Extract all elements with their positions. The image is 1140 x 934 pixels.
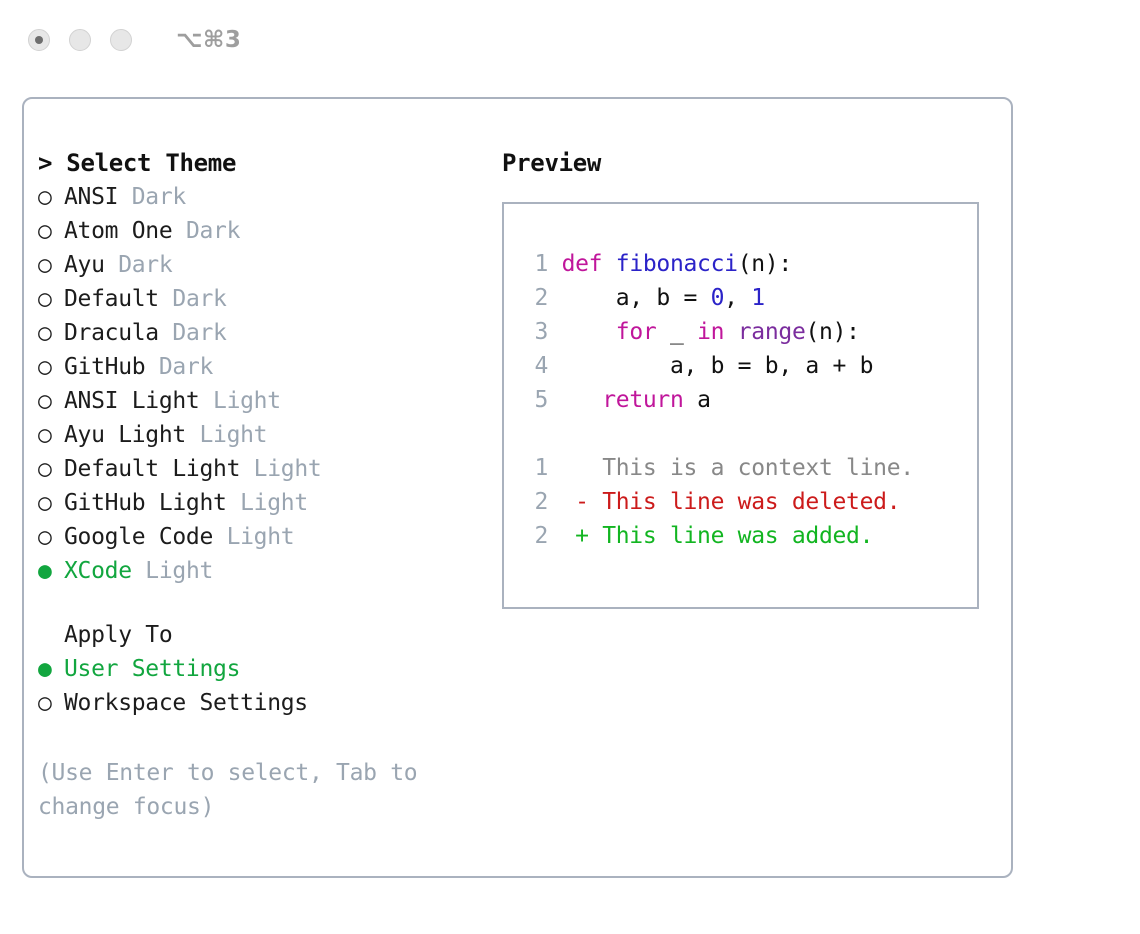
theme-option-label: XCode: [64, 558, 132, 584]
theme-option-tag: Light: [213, 524, 294, 550]
code-token: (n):: [806, 319, 860, 345]
code-line: 5 return a: [514, 383, 914, 417]
window-dot-2-icon[interactable]: [69, 29, 91, 51]
theme-option-label: Default: [64, 286, 159, 312]
theme-option-label: Ayu: [64, 252, 105, 278]
theme-option-row[interactable]: ○Atom One Dark: [38, 214, 498, 248]
radio-unselected-icon[interactable]: ○: [38, 248, 64, 282]
preview-heading: Preview: [502, 146, 1002, 180]
code-line: 4 a, b = b, a + b: [514, 349, 914, 383]
theme-option-tag: Light: [240, 456, 321, 482]
line-number: 1: [514, 247, 548, 281]
theme-option-row[interactable]: ○Ayu Dark: [38, 248, 498, 282]
theme-option-tag: Dark: [105, 252, 173, 278]
theme-option-row[interactable]: ○Ayu Light Light: [38, 418, 498, 452]
preview-box: 1 def fibonacci(n):2 a, b = 0, 13 for _ …: [502, 202, 979, 609]
window-dot-inner-icon: [35, 36, 43, 44]
line-number: 5: [514, 383, 548, 417]
theme-option-tag: Dark: [145, 354, 213, 380]
code-line: 1 This is a context line.: [514, 451, 914, 485]
radio-unselected-icon[interactable]: ○: [38, 384, 64, 418]
keyboard-shortcut-label: ⌥⌘3: [176, 27, 241, 53]
code-token: def: [562, 251, 616, 277]
theme-option-tag: Dark: [159, 286, 227, 312]
code-token: [562, 319, 616, 345]
theme-option-label: GitHub Light: [64, 490, 227, 516]
theme-option-label: Ayu Light: [64, 422, 186, 448]
theme-list-panel: > Select Theme ○ANSI Dark○Atom One Dark○…: [38, 146, 498, 824]
select-theme-heading: > Select Theme: [38, 146, 498, 180]
line-number: 1: [514, 451, 548, 485]
theme-option-row[interactable]: ○Google Code Light: [38, 520, 498, 554]
apply-to-list[interactable]: ●User Settings○Workspace Settings: [38, 652, 498, 720]
code-line: 3 for _ in range(n):: [514, 315, 914, 349]
theme-option-row[interactable]: ●XCode Light: [38, 554, 498, 588]
line-number: 3: [514, 315, 548, 349]
code-line: 2 a, b = 0, 1: [514, 281, 914, 315]
theme-option-row[interactable]: ○Default Dark: [38, 282, 498, 316]
code-token: a: [684, 387, 711, 413]
radio-selected-icon[interactable]: ●: [38, 554, 64, 588]
radio-unselected-icon[interactable]: ○: [38, 686, 64, 720]
theme-option-label: ANSI: [64, 184, 118, 210]
theme-option-label: ANSI Light: [64, 388, 199, 414]
theme-option-row[interactable]: ○Dracula Dark: [38, 316, 498, 350]
radio-selected-icon[interactable]: ●: [38, 652, 64, 686]
window-dot-3-icon[interactable]: [110, 29, 132, 51]
radio-unselected-icon[interactable]: ○: [38, 316, 64, 350]
code-token: for: [616, 319, 657, 345]
code-token: (n):: [738, 251, 792, 277]
window-dot-active-icon[interactable]: [28, 29, 50, 51]
code-line: 1 def fibonacci(n):: [514, 247, 914, 281]
radio-unselected-icon[interactable]: ○: [38, 350, 64, 384]
line-number: 2: [514, 519, 548, 553]
window-controls: [28, 29, 132, 51]
theme-option-row[interactable]: ○GitHub Dark: [38, 350, 498, 384]
line-number: 4: [514, 349, 548, 383]
theme-option-label: Google Code: [64, 524, 213, 550]
radio-unselected-icon[interactable]: ○: [38, 180, 64, 214]
theme-option-label: Dracula: [64, 320, 159, 346]
code-token: return: [602, 387, 683, 413]
radio-unselected-icon[interactable]: ○: [38, 520, 64, 554]
code-token: + This line was added.: [562, 523, 874, 549]
theme-option-row[interactable]: ○ANSI Dark: [38, 180, 498, 214]
apply-to-option-label: Workspace Settings: [64, 690, 308, 716]
theme-option-label: GitHub: [64, 354, 145, 380]
code-token: in: [697, 319, 724, 345]
code-token: - This line was deleted.: [562, 489, 901, 515]
code-preview: 1 def fibonacci(n):2 a, b = 0, 13 for _ …: [514, 247, 914, 553]
theme-option-label: Default Light: [64, 456, 240, 482]
apply-to-option-row[interactable]: ●User Settings: [38, 652, 498, 686]
line-number: 2: [514, 281, 548, 315]
theme-option-tag: Light: [132, 558, 213, 584]
theme-option-tag: Light: [199, 388, 280, 414]
code-line: 2 + This line was added.: [514, 519, 914, 553]
theme-list[interactable]: ○ANSI Dark○Atom One Dark○Ayu Dark○Defaul…: [38, 180, 498, 588]
preview-panel: Preview 1 def fibonacci(n):2 a, b = 0, 1…: [502, 146, 1002, 609]
window-columns: > Select Theme ○ANSI Dark○Atom One Dark○…: [24, 99, 1011, 876]
radio-unselected-icon[interactable]: ○: [38, 282, 64, 316]
code-token: a, b = b, a + b: [562, 353, 874, 379]
theme-option-tag: Dark: [172, 218, 240, 244]
theme-option-tag: Light: [186, 422, 267, 448]
apply-to-option-label: User Settings: [64, 656, 240, 682]
code-token: range: [738, 319, 806, 345]
code-token: _: [656, 319, 697, 345]
line-number: 2: [514, 485, 548, 519]
apply-to-option-row[interactable]: ○Workspace Settings: [38, 686, 498, 720]
theme-option-row[interactable]: ○Default Light Light: [38, 452, 498, 486]
code-token: a, b =: [562, 285, 711, 311]
keyboard-hint-text: (Use Enter to select, Tab to change focu…: [38, 756, 438, 824]
theme-picker-window: > Select Theme ○ANSI Dark○Atom One Dark○…: [22, 97, 1013, 878]
code-token: [562, 387, 603, 413]
code-token: This is a context line.: [562, 455, 914, 481]
radio-unselected-icon[interactable]: ○: [38, 418, 64, 452]
radio-unselected-icon[interactable]: ○: [38, 452, 64, 486]
code-line: 2 - This line was deleted.: [514, 485, 914, 519]
code-token: 0: [711, 285, 725, 311]
apply-to-heading: Apply To: [38, 618, 498, 652]
code-token: fibonacci: [616, 251, 738, 277]
code-blank-line: [514, 417, 914, 451]
theme-option-row[interactable]: ○ANSI Light Light: [38, 384, 498, 418]
radio-unselected-icon[interactable]: ○: [38, 486, 64, 520]
radio-unselected-icon[interactable]: ○: [38, 214, 64, 248]
list-spacer: [38, 588, 498, 618]
theme-option-row[interactable]: ○GitHub Light Light: [38, 486, 498, 520]
theme-option-tag: Light: [227, 490, 308, 516]
window-titlebar: ⌥⌘3: [0, 0, 1140, 80]
code-token: ,: [724, 285, 751, 311]
code-token: [724, 319, 738, 345]
theme-option-tag: Dark: [159, 320, 227, 346]
code-token: 1: [751, 285, 765, 311]
theme-option-label: Atom One: [64, 218, 172, 244]
theme-option-tag: Dark: [118, 184, 186, 210]
